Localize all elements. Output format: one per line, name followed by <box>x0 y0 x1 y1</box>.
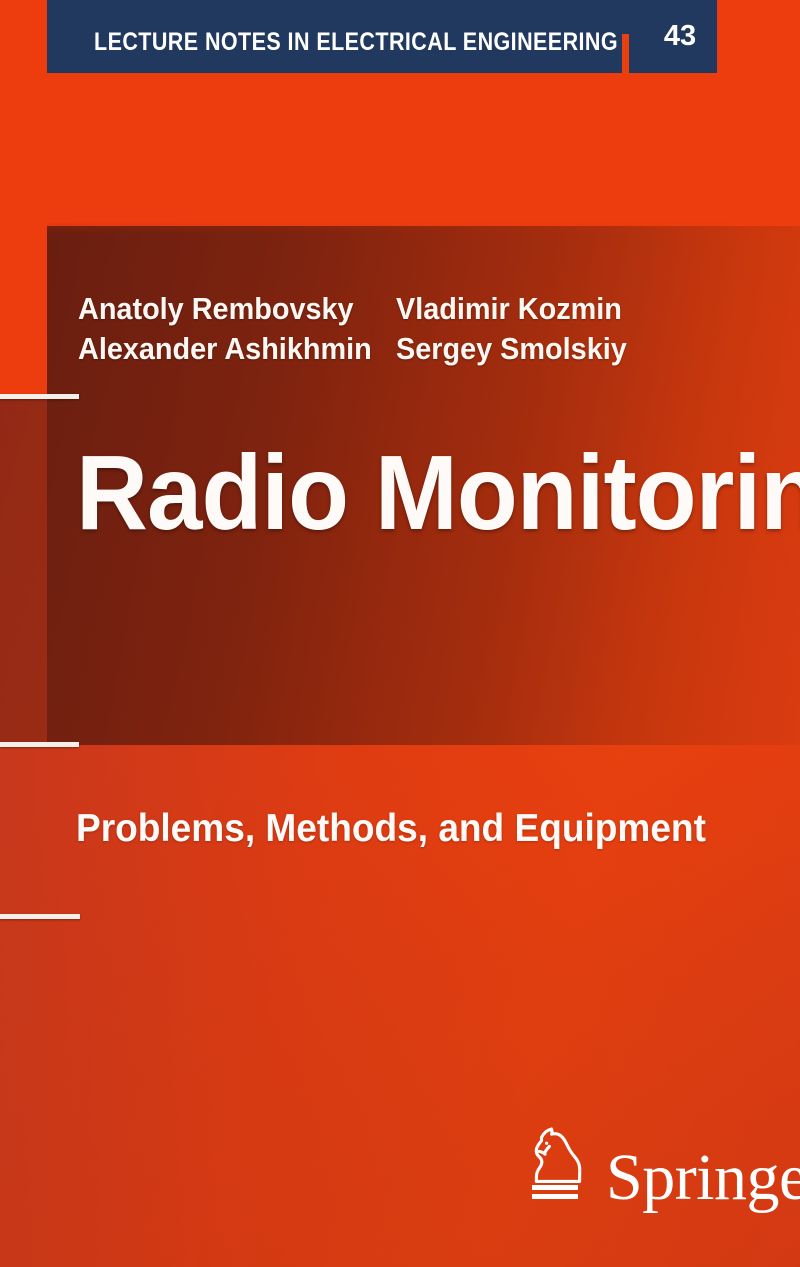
springer-knight-icon <box>518 1124 592 1207</box>
book-subtitle: Problems, Methods, and Equipment <box>76 808 706 851</box>
left-rule-top <box>0 394 79 399</box>
series-title: LECTURE NOTES IN ELECTRICAL ENGINEERING <box>94 18 618 55</box>
book-cover: LECTURE NOTES IN ELECTRICAL ENGINEERING … <box>0 0 800 1267</box>
series-banner: LECTURE NOTES IN ELECTRICAL ENGINEERING <box>47 0 717 73</box>
series-volume-number: 43 <box>650 22 710 51</box>
author-list: Anatoly Rembovsky Vladimir Kozmin Alexan… <box>78 289 718 370</box>
author-name: Anatoly Rembovsky <box>78 289 374 329</box>
author-name: Vladimir Kozmin <box>396 289 694 329</box>
publisher-name: Springer <box>606 1149 800 1207</box>
series-separator-bar <box>622 34 629 73</box>
left-rule-middle <box>0 742 79 747</box>
book-title: Radio Monitoring <box>76 440 800 546</box>
author-name: Sergey Smolskiy <box>396 329 694 369</box>
author-row: Anatoly Rembovsky Vladimir Kozmin <box>78 289 718 329</box>
left-edge-dim-strip <box>0 398 47 745</box>
left-rule-bottom <box>0 914 80 919</box>
author-name: Alexander Ashikhmin <box>78 329 374 369</box>
publisher-logo: Springer <box>518 1124 800 1207</box>
left-edge-bright-strip <box>0 0 47 398</box>
author-row: Alexander Ashikhmin Sergey Smolskiy <box>78 329 718 369</box>
